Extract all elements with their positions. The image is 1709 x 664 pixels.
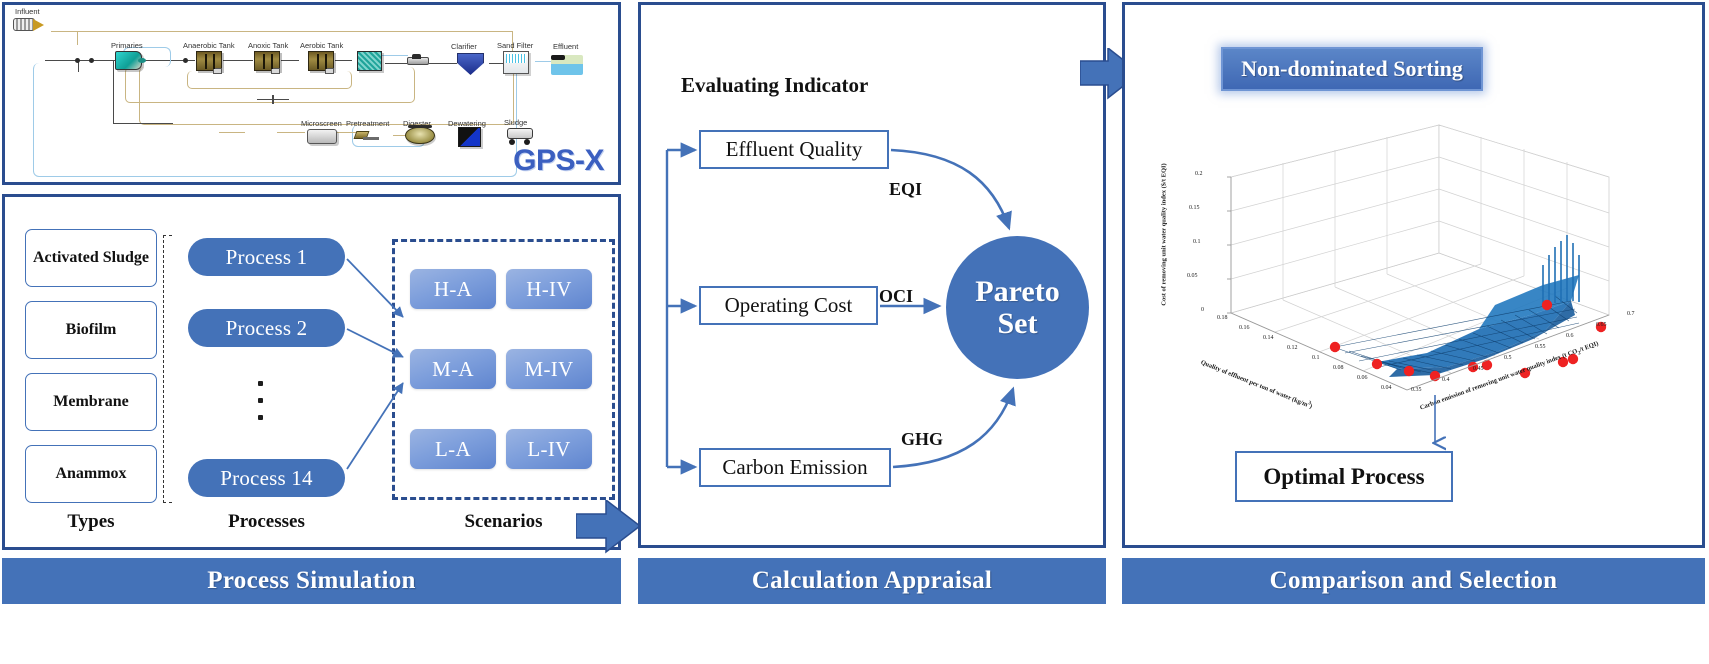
column-label-types: Types xyxy=(25,511,157,533)
flow-label-digester: Digester xyxy=(403,119,431,128)
anaerobic-tank-icon xyxy=(196,51,222,71)
y-tick-6: 0.65 xyxy=(1596,322,1607,328)
flow-label-sand-filter: Sand Filter xyxy=(497,41,533,50)
pump-icon xyxy=(407,57,429,65)
x-tick-3: 0.12 xyxy=(1287,345,1298,351)
column-label-processes: Processes xyxy=(188,511,345,533)
footer-calculation-appraisal: Calculation Appraisal xyxy=(638,558,1106,604)
digester-icon xyxy=(405,127,435,144)
dewatering-icon xyxy=(458,127,481,147)
column-process-simulation: Influent Primaries Anaerobic Tank Anoxic… xyxy=(2,2,625,662)
z-tick-3: 0.05 xyxy=(1187,273,1198,279)
anoxic-tank-icon xyxy=(254,51,280,71)
column-calculation-appraisal: Evaluating Indicator Effluent Quality Op… xyxy=(638,2,1108,662)
sand-filter-icon xyxy=(503,51,529,74)
flow-label-microscreen: Microscreen xyxy=(301,119,342,128)
y-tick-1: 0.4 xyxy=(1442,377,1450,383)
x-tick-1: 0.16 xyxy=(1239,325,1250,331)
flow-label-clarifier: Clarifier xyxy=(451,42,477,51)
effluent-icon xyxy=(551,55,583,75)
gpsx-logo: GPS-X xyxy=(513,144,604,178)
optimal-process-box[interactable]: Optimal Process xyxy=(1235,451,1453,502)
process-scenario-panel: Activated Sludge Biofilm Membrane Anammo… xyxy=(2,194,621,550)
calculation-panel: Evaluating Indicator Effluent Quality Op… xyxy=(638,2,1106,548)
aerobic-tank-icon xyxy=(308,51,334,71)
comparison-panel: Non-dominated Sorting xyxy=(1122,2,1705,548)
arrow-simulation-to-appraisal xyxy=(576,500,642,554)
flow-label-dewatering: Dewatering xyxy=(448,119,486,128)
footer-comparison-selection: Comparison and Selection xyxy=(1122,558,1705,604)
calculation-flow-arrows xyxy=(641,5,1109,551)
z-tick-1: 0.15 xyxy=(1189,205,1200,211)
y-tick-3: 0.5 xyxy=(1504,355,1512,361)
footer-process-simulation: Process Simulation xyxy=(2,558,621,604)
x-tick-2: 0.14 xyxy=(1263,335,1274,341)
non-dominated-sorting-banner: Non-dominated Sorting xyxy=(1221,47,1483,91)
influent-icon xyxy=(13,17,47,33)
y-tick-7: 0.7 xyxy=(1627,311,1635,317)
process-to-scenario-arrows xyxy=(5,197,624,553)
x-tick-0: 0.18 xyxy=(1217,315,1228,321)
x-tick-6: 0.06 xyxy=(1357,375,1368,381)
arrow-to-optimal-process xyxy=(1415,395,1455,451)
primaries-icon xyxy=(115,51,142,70)
flow-label-pretreatment: Pretreatment xyxy=(346,119,389,128)
z-axis-title: Cost of removing unit water quality inde… xyxy=(1161,163,1168,305)
microscreen-icon xyxy=(307,129,337,144)
figure-root: Influent Primaries Anaerobic Tank Anoxic… xyxy=(0,0,1709,664)
flow-label-effluent: Effluent xyxy=(553,42,578,51)
gpsx-flowsheet-panel: Influent Primaries Anaerobic Tank Anoxic… xyxy=(2,2,621,185)
y-tick-2: 0.45 xyxy=(1473,366,1484,372)
flow-label-anoxic: Anoxic Tank xyxy=(248,41,288,50)
flow-label-primaries: Primaries xyxy=(111,41,143,50)
z-tick-0: 0.2 xyxy=(1195,171,1203,177)
column-comparison-selection: Non-dominated Sorting xyxy=(1122,2,1707,662)
x-tick-4: 0.1 xyxy=(1312,355,1320,361)
flow-label-anaerobic: Anaerobic Tank xyxy=(183,41,235,50)
y-tick-5: 0.6 xyxy=(1566,333,1574,339)
flow-label-sludge: Sludge xyxy=(504,118,527,127)
z-tick-2: 0.1 xyxy=(1193,239,1201,245)
pretreatment-icon xyxy=(355,131,377,141)
flow-label-aerobic: Aerobic Tank xyxy=(300,41,343,50)
plot-svg xyxy=(1139,115,1699,425)
x-tick-5: 0.08 xyxy=(1333,365,1344,371)
z-tick-4: 0 xyxy=(1201,307,1204,313)
aeration-basin-icon xyxy=(357,51,382,71)
y-tick-0: 0.35 xyxy=(1411,387,1422,393)
y-tick-4: 0.55 xyxy=(1535,344,1546,350)
pareto-surface-3d-plot: 0.2 0.15 0.1 0.05 0 Cost of removing uni… xyxy=(1139,115,1699,425)
x-tick-7: 0.04 xyxy=(1381,385,1392,391)
flow-label-influent: Influent xyxy=(15,7,40,16)
